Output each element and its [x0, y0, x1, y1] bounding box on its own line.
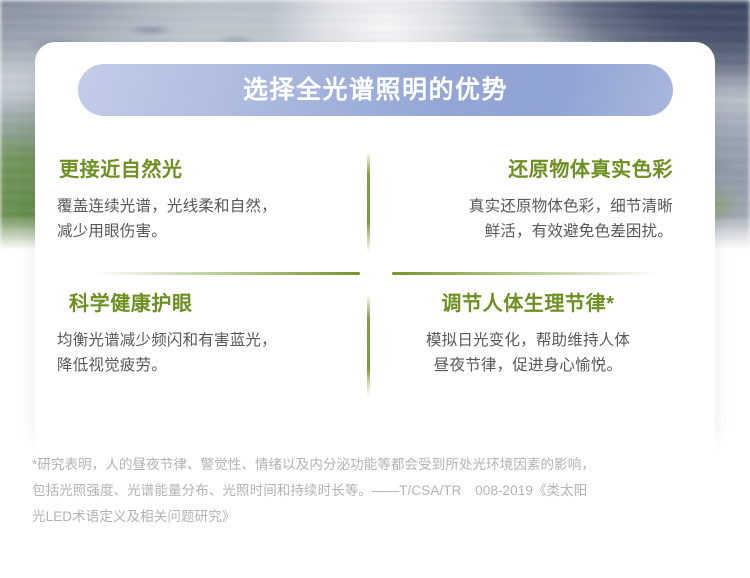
- feature-body: 真实还原物体色彩，细节清晰 鲜活，有效避免色差困扰。: [375, 194, 673, 244]
- divider-horizontal-right: [392, 272, 657, 275]
- feature-title: 还原物体真实色彩: [375, 158, 673, 183]
- feature-body: 模拟日光变化，帮助维持人体 昼夜节律，促进身心愉悦。: [375, 328, 681, 378]
- feature-title: 调节人体生理节律*: [375, 292, 681, 317]
- banner-pill: 选择全光谱照明的优势: [78, 64, 673, 116]
- divider-horizontal-left: [95, 272, 360, 275]
- feature-regulate-circadian-rhythm: 调节人体生理节律* 模拟日光变化，帮助维持人体 昼夜节律，促进身心愉悦。: [375, 292, 695, 378]
- footnote-citation: *研究表明，人的昼夜节律、警觉性、情绪以及内分泌功能等都会受到所处光环境因素的影…: [32, 452, 722, 530]
- card-bottom-fade: [35, 372, 715, 462]
- feature-body: 均衡光谱减少频闪和有害蓝光， 降低视觉疲劳。: [57, 328, 377, 378]
- banner-title: 选择全光谱照明的优势: [243, 78, 508, 103]
- feature-scientific-eye-protection: 科学健康护眼 均衡光谱减少频闪和有害蓝光， 降低视觉疲劳。: [57, 292, 377, 378]
- feature-body: 覆盖连续光谱，光线柔和自然， 减少用眼伤害。: [57, 194, 377, 244]
- feature-title: 科学健康护眼: [57, 292, 377, 317]
- feature-closer-to-natural-light: 更接近自然光 覆盖连续光谱，光线柔和自然， 减少用眼伤害。: [57, 158, 377, 244]
- divider-vertical-top: [367, 152, 370, 252]
- promo-page: 选择全光谱照明的优势 更接近自然光 覆盖连续光谱，光线柔和自然， 减少用眼伤害。…: [0, 0, 750, 578]
- feature-restore-true-colors: 还原物体真实色彩 真实还原物体色彩，细节清晰 鲜活，有效避免色差困扰。: [375, 158, 695, 244]
- feature-title: 更接近自然光: [57, 158, 377, 183]
